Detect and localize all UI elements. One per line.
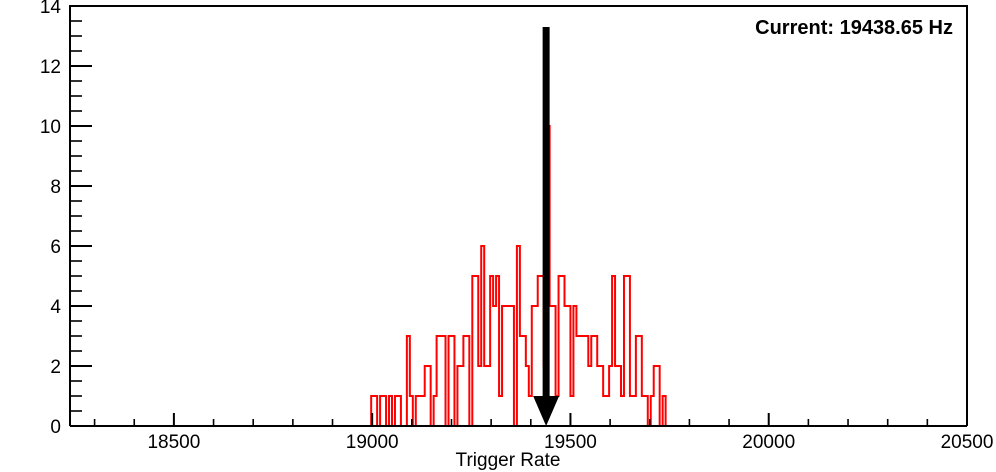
y-tick-label: 4 xyxy=(50,297,61,318)
canvas-background xyxy=(0,0,996,472)
y-tick-label: 14 xyxy=(40,0,62,18)
x-tick-label: 19000 xyxy=(346,432,399,453)
y-tick-label: 12 xyxy=(40,57,61,78)
y-tick-label: 10 xyxy=(40,117,61,138)
x-tick-label: 18500 xyxy=(147,432,200,453)
histogram-canvas: 1850019000195002000020500 02468101214 Tr… xyxy=(0,0,996,472)
x-tick-label: 20500 xyxy=(941,432,994,453)
x-axis-title: Trigger Rate xyxy=(456,450,561,471)
y-tick-label: 2 xyxy=(50,357,61,378)
y-tick-label: 6 xyxy=(50,237,61,258)
x-tick-label: 20000 xyxy=(742,432,795,453)
y-tick-label: 0 xyxy=(50,417,61,438)
root-canvas-plot: 1850019000195002000020500 02468101214 Tr… xyxy=(0,0,996,472)
current-value-label: Current: 19438.65 Hz xyxy=(755,17,953,39)
y-tick-label: 8 xyxy=(50,177,61,198)
